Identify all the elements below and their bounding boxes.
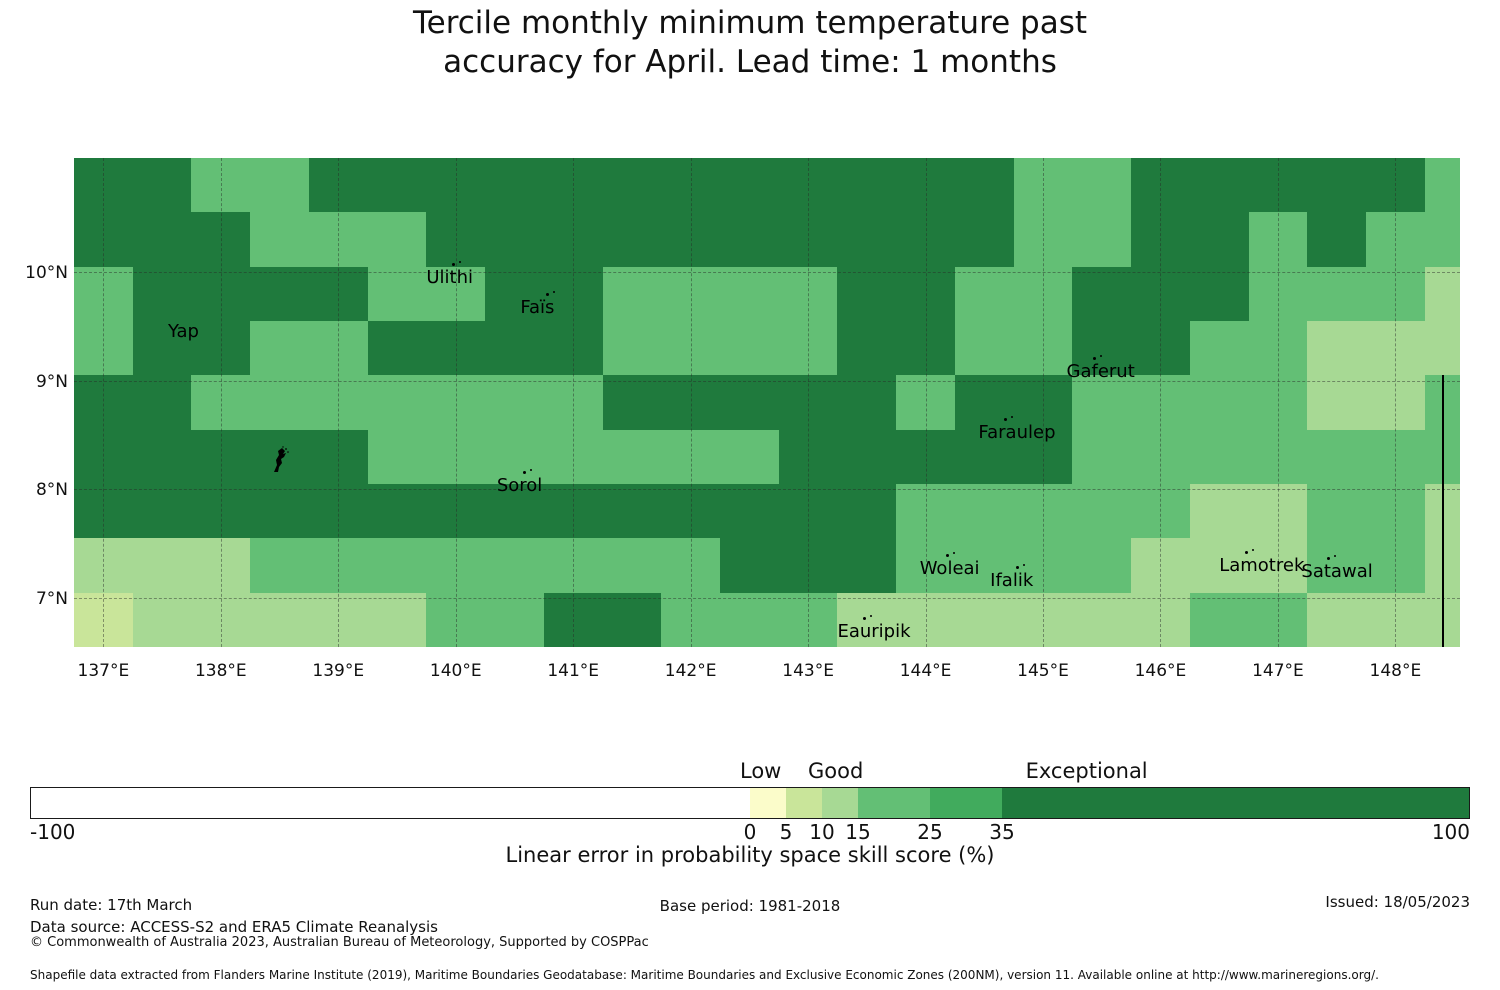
x-axis-tick: 142°E xyxy=(646,661,736,681)
x-axis-tick: 139°E xyxy=(293,661,383,681)
y-axis-tick: 9°N xyxy=(8,372,68,392)
colorbar-segment xyxy=(1002,788,1469,818)
colorbar-tick: 25 xyxy=(917,820,942,844)
colorbar-tick: 35 xyxy=(989,820,1014,844)
colorbar-tick: 5 xyxy=(780,820,793,844)
colorbar-tick: 100 xyxy=(1432,820,1470,844)
footer-base-period: Base period: 1981-2018 xyxy=(0,897,1500,915)
colorbar-segment xyxy=(822,788,858,818)
y-axis-tick: 10°N xyxy=(8,263,68,283)
x-axis-tick: 147°E xyxy=(1233,661,1323,681)
footer-issued-date: Issued: 18/05/2023 xyxy=(1325,893,1470,911)
colorbar-segment xyxy=(786,788,822,818)
colorbar-segment xyxy=(750,788,786,818)
footer-copyright: © Commonwealth of Australia 2023, Austra… xyxy=(30,935,649,950)
x-axis-tick: 148°E xyxy=(1350,661,1440,681)
colorbar-segment xyxy=(858,788,930,818)
footer-data-source: Data source: ACCESS-S2 and ERA5 Climate … xyxy=(30,918,438,936)
y-axis-tick: 7°N xyxy=(8,589,68,609)
colorbar-segment xyxy=(31,788,750,818)
x-axis-tick: 140°E xyxy=(411,661,501,681)
colorbar-segment xyxy=(930,788,1002,818)
colorbar xyxy=(30,787,1470,819)
x-axis-tick: 146°E xyxy=(1115,661,1205,681)
y-axis-tick: 8°N xyxy=(8,480,68,500)
colorbar-caption-good: Good xyxy=(808,759,863,783)
colorbar-tick: 0 xyxy=(744,820,757,844)
x-axis-tick: 137°E xyxy=(58,661,148,681)
x-axis-tick: 138°E xyxy=(176,661,266,681)
x-axis-tick: 143°E xyxy=(763,661,853,681)
colorbar-caption-low: Low xyxy=(740,759,781,783)
footer-shapefile-note: Shapefile data extracted from Flanders M… xyxy=(30,968,1379,982)
x-axis-tick: 145°E xyxy=(998,661,1088,681)
colorbar-tick: 10 xyxy=(809,820,834,844)
colorbar-tick: 15 xyxy=(845,820,870,844)
colorbar-caption-exceptional: Exceptional xyxy=(1026,759,1148,783)
x-axis-tick: 144°E xyxy=(881,661,971,681)
colorbar-axis-label: Linear error in probability space skill … xyxy=(0,843,1500,867)
x-axis-tick: 141°E xyxy=(528,661,618,681)
colorbar-tick: -100 xyxy=(30,820,75,844)
